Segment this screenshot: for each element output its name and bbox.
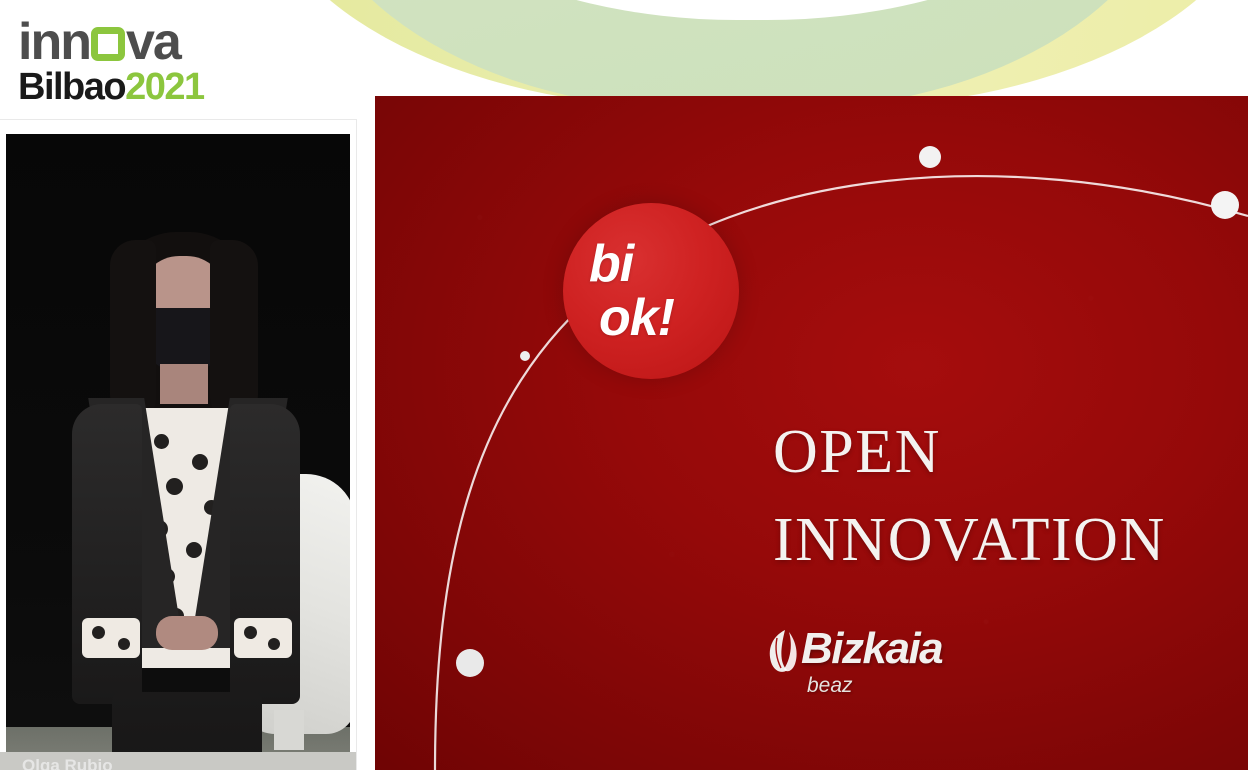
logo-wordmark-innova: innva	[18, 18, 238, 66]
beaz-wordmark: beaz	[807, 674, 853, 698]
logo-text-year: 2021	[125, 66, 204, 108]
polka-dot	[268, 638, 280, 650]
innova-bilbao-logo: innva Bilbao2021	[18, 18, 238, 106]
speaker-sleeve-right	[230, 404, 300, 704]
speaker-cuff-left	[82, 618, 140, 658]
curve-node	[520, 351, 530, 361]
screen-root: innva Bilbao2021	[0, 0, 1248, 770]
speaker-hands	[156, 616, 218, 650]
leaf-icon	[765, 628, 805, 674]
green-square-o-icon	[91, 27, 125, 61]
curve-node	[1211, 191, 1239, 219]
speaker-figure	[62, 222, 302, 770]
presentation-slide[interactable]: bi ok! OPEN INNOVATION Bizkaia beaz	[375, 96, 1248, 770]
polka-dot	[92, 626, 105, 639]
speaker-video-frame[interactable]	[6, 134, 350, 770]
slide-title-line-1: OPEN	[773, 408, 1248, 496]
bizkaia-wordmark: Bizkaia	[801, 624, 942, 674]
curve-node	[919, 146, 941, 168]
speaker-cuff-right	[234, 618, 292, 658]
biok-badge[interactable]: bi ok!	[563, 203, 739, 379]
speaker-video-panel[interactable]	[0, 120, 356, 770]
biok-line-1: bi	[589, 237, 739, 291]
slide-title-line-2: INNOVATION	[773, 496, 1248, 584]
speaker-sleeve-left	[72, 404, 142, 704]
logo-text-inn: inn	[18, 13, 90, 71]
arc-green-shape	[300, 0, 1180, 110]
curve-node	[456, 649, 484, 677]
biok-badge-text: bi ok!	[563, 203, 739, 379]
speaker-caption-strip: Olga Rubio	[0, 752, 356, 770]
logo-text-va: va	[126, 13, 180, 71]
arc-white-notch	[352, 0, 1152, 20]
polka-dot	[244, 626, 257, 639]
logo-wordmark-bilbao-year: Bilbao2021	[18, 68, 238, 106]
slide-title: OPEN INNOVATION	[773, 408, 1248, 584]
arc-yellow-shape	[258, 0, 1248, 108]
bizkaia-beaz-logo: Bizkaia beaz	[765, 624, 965, 712]
polka-dot	[118, 638, 130, 650]
logo-text-bilbao: Bilbao	[18, 66, 125, 108]
speaker-caption-text: Olga Rubio	[22, 756, 113, 770]
biok-line-2: ok!	[589, 291, 739, 345]
